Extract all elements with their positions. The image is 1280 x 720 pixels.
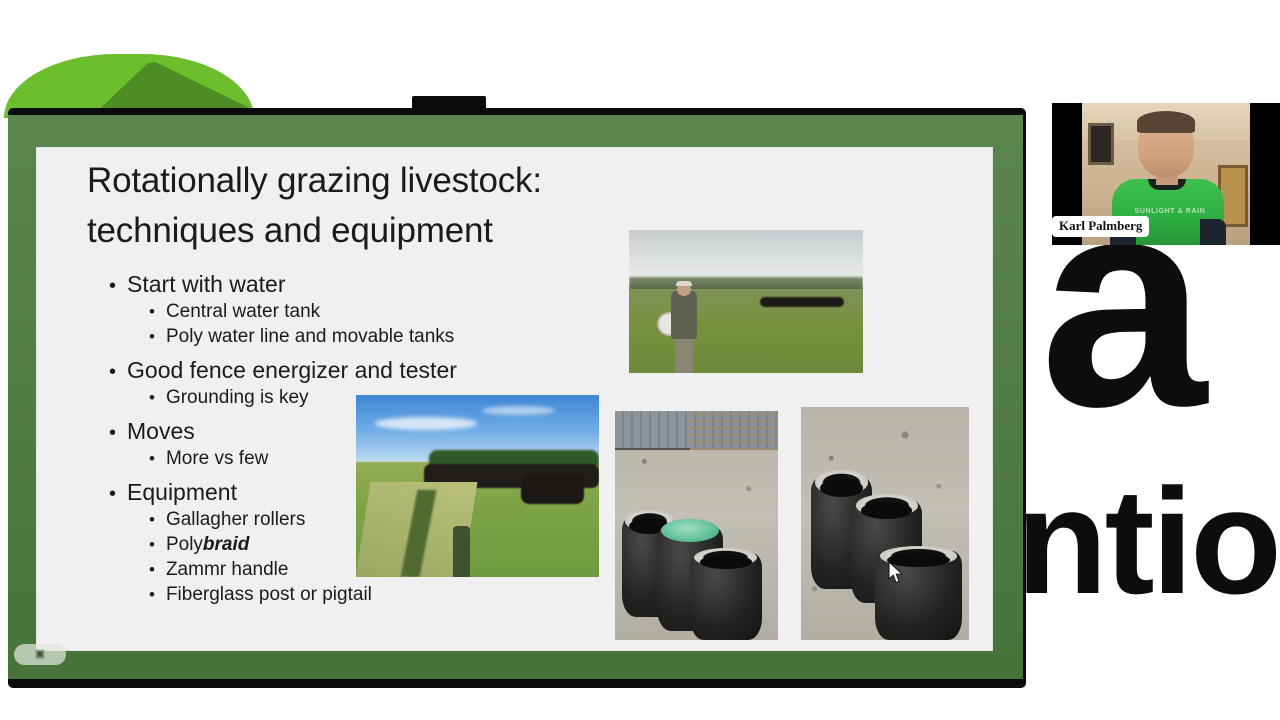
bullet-glyph-icon: • xyxy=(149,586,155,603)
photo-cloud xyxy=(375,417,477,430)
photo-cloud xyxy=(482,406,555,415)
slide-bullet-text: Zammr handle xyxy=(166,559,289,581)
bullet-glyph-icon: • xyxy=(149,511,155,528)
slide-bullet-item: •Poly water line and movable tanks xyxy=(83,326,603,348)
photo-fence-rails xyxy=(690,411,778,450)
photo-tank-opening xyxy=(820,479,864,497)
photo-person-hat xyxy=(676,281,692,287)
slide-bullet-text: Central water tank xyxy=(166,301,320,323)
photo-tank-opening xyxy=(887,553,950,567)
meeting-screen-share-view: a ntion Rotationally grazing livestock: … xyxy=(0,0,1280,720)
shared-screen-window[interactable]: Rotationally grazing livestock: techniqu… xyxy=(8,108,1026,688)
photo-cattle-herd xyxy=(760,297,844,307)
slide-bullet-item: •Central water tank xyxy=(83,301,603,323)
slide-bullet-text: Poly xyxy=(166,534,203,556)
slide-photo-cover-crop xyxy=(356,395,599,577)
bullet-glyph-icon: • xyxy=(109,276,116,296)
photo-water-tank xyxy=(690,553,762,640)
slide-bullet-text: Equipment xyxy=(127,479,237,506)
bullet-glyph-icon: • xyxy=(149,328,155,345)
photo-sky xyxy=(629,230,863,284)
bullet-glyph-icon: • xyxy=(149,303,155,320)
wall-picture-frame xyxy=(1088,123,1114,165)
presenter-hair xyxy=(1137,111,1195,133)
photo-person-legs xyxy=(675,334,694,373)
slide-bullet-text: Moves xyxy=(127,418,195,445)
slide-bullet-text: Fiberglass post or pigtail xyxy=(166,584,372,606)
slide-title: Rotationally grazing livestock: techniqu… xyxy=(87,156,607,255)
slide-bullet-item: •Start with water xyxy=(83,271,603,298)
presenter-name-label: Karl Palmberg xyxy=(1052,216,1149,237)
bullet-glyph-icon: • xyxy=(109,362,116,382)
bullet-glyph-icon: • xyxy=(149,561,155,578)
slide-bullet-emphasis: braid xyxy=(203,534,249,556)
slide-photo-tanks-right xyxy=(801,407,969,640)
slide-photo-tanks-left xyxy=(615,411,778,640)
photo-water-tank xyxy=(875,551,962,640)
slide-bullet-text: Poly water line and movable tanks xyxy=(166,326,454,348)
bullet-glyph-icon: • xyxy=(149,389,155,406)
photo-tank-opening xyxy=(700,555,752,569)
slide-bullet-text: Good fence energizer and tester xyxy=(127,357,457,384)
slide-bullet-text: Gallagher rollers xyxy=(166,509,305,531)
presenter-badge-icon[interactable]: ▣ xyxy=(14,644,66,665)
bullet-glyph-icon: • xyxy=(149,536,155,553)
bullet-glyph-icon: • xyxy=(109,484,116,504)
slide-bullet-text: More vs few xyxy=(166,448,268,470)
presentation-slide: Rotationally grazing livestock: techniqu… xyxy=(37,148,992,650)
photo-fence-post xyxy=(453,526,470,577)
photo-tank-green-lid xyxy=(661,519,718,542)
slide-bullet-text: Grounding is key xyxy=(166,387,309,409)
photo-cattle-herd xyxy=(521,475,584,504)
slide-bullet-item: •Good fence energizer and tester xyxy=(83,357,603,384)
slide-bullet-item: •Fiberglass post or pigtail xyxy=(83,584,603,606)
bullet-glyph-icon: • xyxy=(109,423,116,443)
photo-person-body xyxy=(671,291,697,338)
bullet-glyph-icon: • xyxy=(149,450,155,467)
slide-photo-pasture-man xyxy=(629,230,863,373)
slide-bullet-text: Start with water xyxy=(127,271,286,298)
background-brand-text-fragment-b: ntion xyxy=(1016,480,1280,603)
badge-glyph: ▣ xyxy=(35,649,45,660)
presenter-sleeve-right xyxy=(1200,219,1226,245)
photo-tank-opening xyxy=(861,502,912,518)
